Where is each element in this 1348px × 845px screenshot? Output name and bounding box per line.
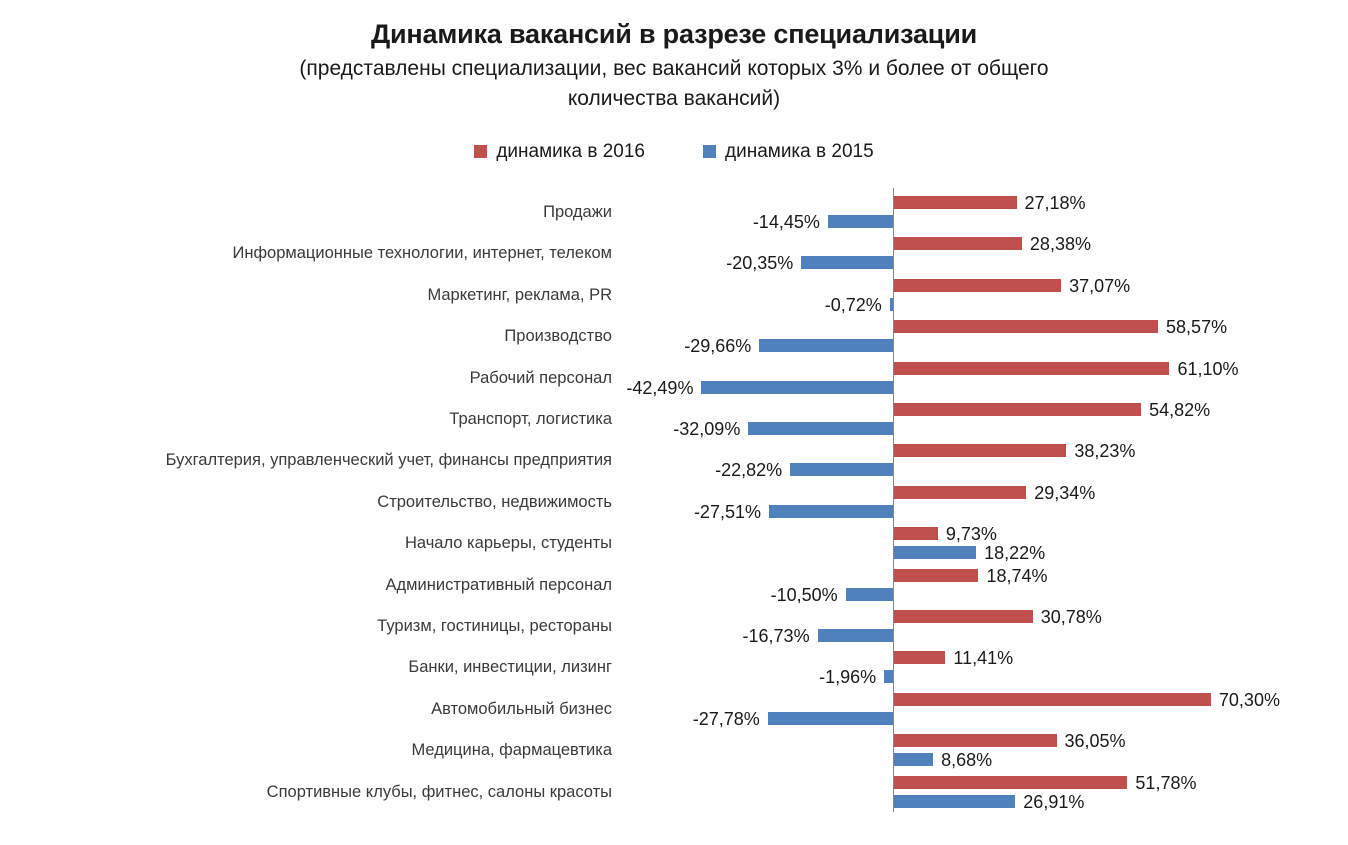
bar-2016[interactable] <box>894 237 1022 250</box>
bar-2015[interactable] <box>894 546 976 559</box>
value-label: 30,78% <box>1041 608 1102 626</box>
category-label: Транспорт, логистика <box>12 410 612 428</box>
value-label: 26,91% <box>1023 793 1084 811</box>
category-label: Медицина, фармацевтика <box>12 741 612 759</box>
bar-2016[interactable] <box>894 486 1026 499</box>
category-label: Спортивные клубы, фитнес, салоны красоты <box>12 783 612 801</box>
bar-2016[interactable] <box>894 693 1211 706</box>
bar-2016[interactable] <box>894 403 1141 416</box>
value-label: -0,72% <box>825 296 882 314</box>
value-label: -29,66% <box>684 337 751 355</box>
value-label: 38,23% <box>1074 442 1135 460</box>
value-label: -14,45% <box>753 213 820 231</box>
value-label: 61,10% <box>1177 360 1238 378</box>
value-label: 8,68% <box>941 751 992 769</box>
value-label: -22,82% <box>715 461 782 479</box>
category-label: Банки, инвестиции, лизинг <box>12 658 612 676</box>
bar-2016[interactable] <box>894 527 938 540</box>
bar-2015[interactable] <box>890 298 893 311</box>
value-label: 29,34% <box>1034 484 1095 502</box>
category-label: Продажи <box>12 203 612 221</box>
bar-2015[interactable] <box>759 339 893 352</box>
bar-2016[interactable] <box>894 651 945 664</box>
bar-2016[interactable] <box>894 279 1061 292</box>
category-label: Начало карьеры, студенты <box>12 534 612 552</box>
value-label: -1,96% <box>819 668 876 686</box>
bar-2016[interactable] <box>894 320 1158 333</box>
category-label: Рабочий персонал <box>12 369 612 387</box>
bar-2015[interactable] <box>894 753 933 766</box>
value-label: 18,74% <box>986 567 1047 585</box>
value-label: 51,78% <box>1135 774 1196 792</box>
bar-2015[interactable] <box>828 215 893 228</box>
bar-2015[interactable] <box>846 588 893 601</box>
plot-area: Продажи27,18%-14,45%Информационные техно… <box>0 0 1348 845</box>
category-label: Автомобильный бизнес <box>12 700 612 718</box>
value-label: -27,51% <box>694 503 761 521</box>
bar-2016[interactable] <box>894 362 1169 375</box>
value-label: 11,41% <box>953 649 1013 667</box>
value-label: -32,09% <box>673 420 740 438</box>
value-label: 58,57% <box>1166 318 1227 336</box>
value-label: 37,07% <box>1069 277 1130 295</box>
bar-2015[interactable] <box>748 422 893 435</box>
bar-2016[interactable] <box>894 444 1066 457</box>
bar-2016[interactable] <box>894 196 1017 209</box>
category-label: Административный персонал <box>12 576 612 594</box>
bar-2015[interactable] <box>801 256 893 269</box>
category-label: Бухгалтерия, управленческий учет, финанс… <box>12 451 612 469</box>
bar-2015[interactable] <box>818 629 893 642</box>
bar-2015[interactable] <box>701 381 893 394</box>
category-label: Маркетинг, реклама, PR <box>12 286 612 304</box>
value-label: 27,18% <box>1025 194 1086 212</box>
value-label: -16,73% <box>743 627 810 645</box>
value-label: 28,38% <box>1030 235 1091 253</box>
value-label: 9,73% <box>946 525 997 543</box>
value-label: -10,50% <box>771 586 838 604</box>
value-label: 70,30% <box>1219 691 1280 709</box>
bar-2015[interactable] <box>884 670 893 683</box>
category-label: Производство <box>12 327 612 345</box>
chart-container: Динамика вакансий в разрезе специализаци… <box>0 0 1348 845</box>
value-label: -20,35% <box>726 254 793 272</box>
value-label: 54,82% <box>1149 401 1210 419</box>
bar-2015[interactable] <box>790 463 893 476</box>
category-label: Строительство, недвижимость <box>12 493 612 511</box>
category-label: Туризм, гостиницы, рестораны <box>12 617 612 635</box>
bar-2016[interactable] <box>894 610 1033 623</box>
category-label: Информационные технологии, интернет, тел… <box>12 244 612 262</box>
value-label: 36,05% <box>1065 732 1126 750</box>
value-label: -27,78% <box>693 710 760 728</box>
bar-2015[interactable] <box>769 505 893 518</box>
bar-2016[interactable] <box>894 569 978 582</box>
bar-2015[interactable] <box>894 795 1015 808</box>
bar-2016[interactable] <box>894 776 1127 789</box>
value-label: 18,22% <box>984 544 1045 562</box>
value-label: -42,49% <box>626 379 693 397</box>
bar-2015[interactable] <box>768 712 893 725</box>
bar-2016[interactable] <box>894 734 1057 747</box>
